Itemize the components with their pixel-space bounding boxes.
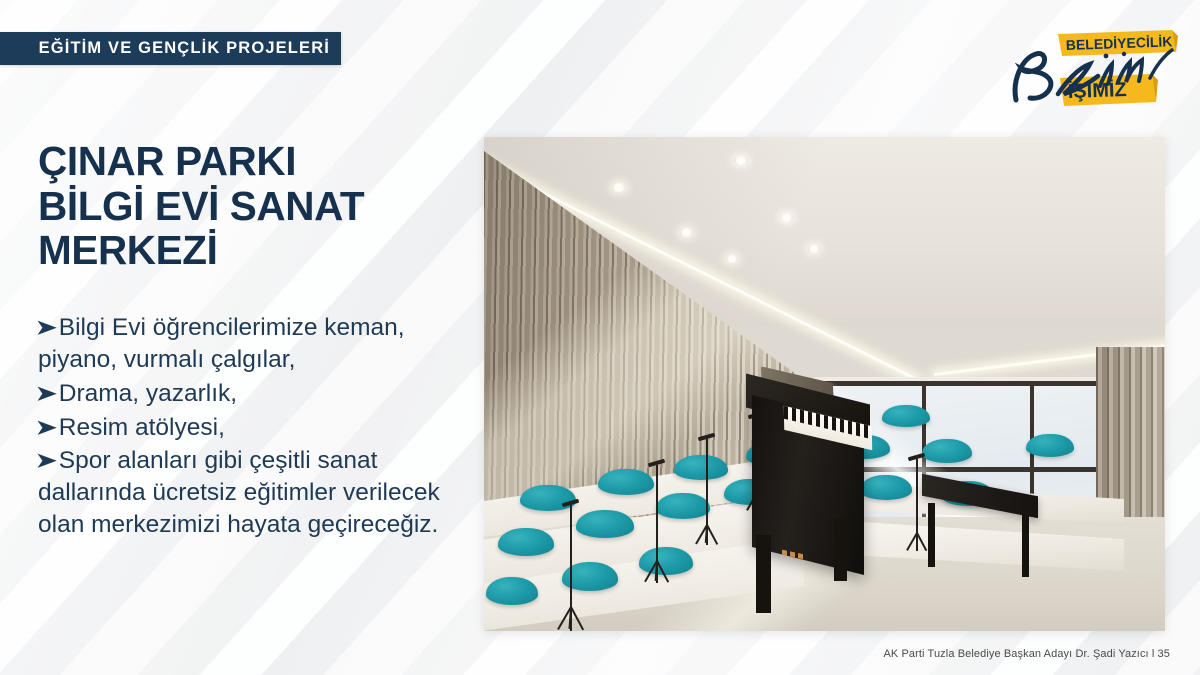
piano-leg <box>834 519 847 581</box>
downlight <box>612 183 626 192</box>
arrow-bullet-icon: ➤ <box>36 415 57 441</box>
footer-credit: AK Parti Tuzla Belediye Başkan Adayı Dr.… <box>883 648 1170 660</box>
seat-cushion <box>674 455 728 480</box>
seat-cushion <box>576 510 634 538</box>
bullet-list: ➤Bilgi Evi öğrencilerimize keman, piyano… <box>38 312 468 543</box>
piano-bench-leg <box>1022 515 1029 577</box>
slide-title: ÇINAR PARKI BİLGİ EVİ SANAT MERKEZİ <box>38 139 458 273</box>
downlight <box>680 228 693 237</box>
seat-cushion <box>656 493 710 519</box>
logo-script-dot-2 <box>1122 52 1126 56</box>
bullet-item: ➤Spor alanları gibi çeşitli sanat dallar… <box>38 445 468 541</box>
slide-title-line-1: ÇINAR PARKI <box>38 139 458 184</box>
seat-cushion <box>882 405 930 427</box>
arrow-bullet-icon: ➤ <box>36 315 57 341</box>
bullet-item-text: Resim atölyesi, <box>59 414 225 441</box>
downlight <box>808 245 820 253</box>
seat-cushion <box>860 475 912 500</box>
logo-script-dot <box>1104 54 1109 59</box>
bullet-item: ➤Drama, yazarlık, <box>38 378 468 410</box>
bullet-item-text: Drama, yazarlık, <box>59 380 237 407</box>
bizim-isimiz-logo: BELEDİYECİLİK İŞİMİZ <box>1000 24 1178 110</box>
downlight <box>734 156 748 165</box>
bullet-item-text: Spor alanları gibi çeşitli sanat dalları… <box>38 447 440 538</box>
seat-cushion <box>639 547 693 575</box>
seat-cushion <box>1026 434 1074 457</box>
downlight <box>780 213 793 222</box>
piano-bench-leg <box>928 503 935 567</box>
slide-canvas: EĞİTİM VE GENÇLİK PROJELERİ BELEDİYECİLİ… <box>0 0 1200 675</box>
seat-cushion <box>520 485 576 511</box>
arrow-bullet-icon: ➤ <box>36 381 57 407</box>
seat-cushion <box>922 439 972 463</box>
bullet-item: ➤Bilgi Evi öğrencilerimize keman, piyano… <box>38 312 468 376</box>
piano-leg <box>756 535 771 613</box>
section-banner-label: EĞİTİM VE GENÇLİK PROJELERİ <box>39 39 330 58</box>
slide-title-line-2: BİLGİ EVİ SANAT <box>38 184 458 229</box>
seat-cushion <box>598 469 654 495</box>
interior-render-photo <box>484 137 1165 631</box>
arrow-bullet-icon: ➤ <box>36 448 57 474</box>
seat-cushion <box>498 528 554 556</box>
seat-cushion <box>486 577 538 605</box>
section-banner: EĞİTİM VE GENÇLİK PROJELERİ <box>0 32 341 65</box>
bullet-item-text: Bilgi Evi öğrencilerimize keman, piyano,… <box>38 314 405 373</box>
slide-title-line-3: MERKEZİ <box>38 228 458 273</box>
downlight <box>726 255 738 263</box>
bullet-item: ➤Resim atölyesi, <box>38 412 468 444</box>
